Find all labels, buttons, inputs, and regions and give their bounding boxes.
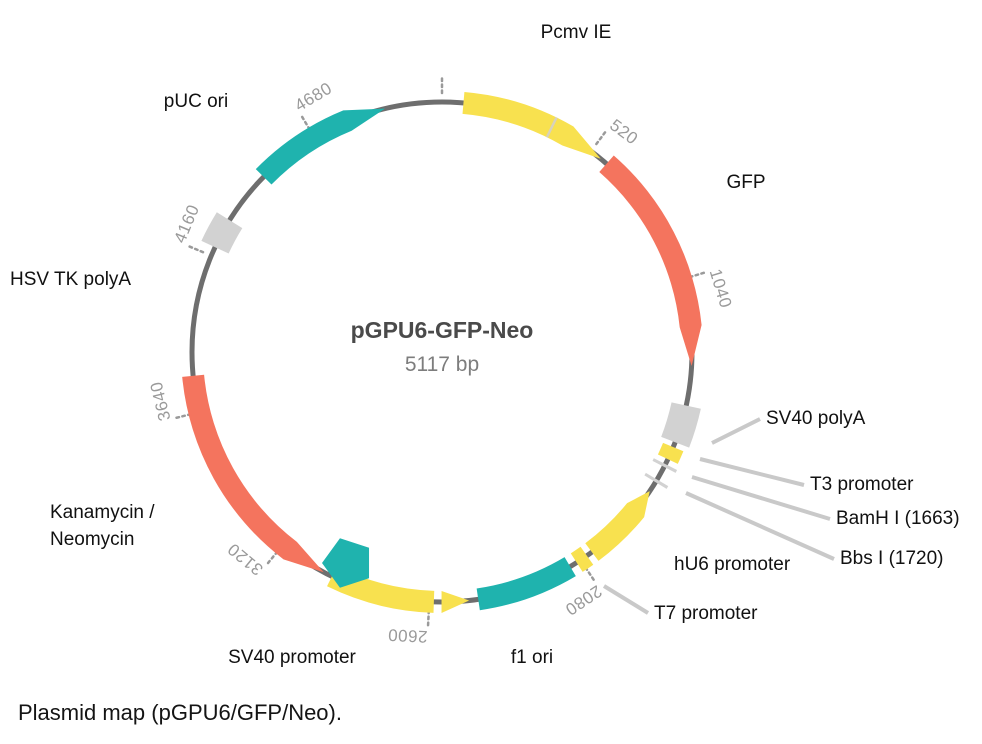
feature-label-sv40-promoter: SV40 promoter bbox=[228, 647, 356, 668]
tick-mark-2080 bbox=[586, 568, 595, 582]
tick-label-3120: 3120 bbox=[224, 539, 267, 579]
feature-label-t7-promoter: T7 promoter bbox=[654, 603, 758, 624]
feature-bbs-i-1720[interactable] bbox=[644, 473, 668, 489]
figure-caption: Plasmid map (pGPU6/GFP/Neo). bbox=[18, 700, 342, 726]
feature-label-pcmv-ie: Pcmv IE bbox=[541, 22, 612, 43]
feature-shape[interactable] bbox=[201, 212, 242, 253]
tick-label-4160: 4160 bbox=[170, 202, 203, 246]
feature-label-sv40-polya: SV40 polyA bbox=[766, 408, 866, 429]
feature-shape[interactable] bbox=[661, 402, 701, 447]
feature-shape[interactable] bbox=[644, 473, 668, 489]
feature-label-kanamycin-neomycin: Kanamycin / bbox=[50, 502, 155, 523]
tick-mark-1040 bbox=[690, 272, 706, 277]
feature-hsv-tk-polya[interactable] bbox=[201, 212, 242, 253]
feature-label-kanamycin-neomycin-line2: Neomycin bbox=[50, 529, 134, 550]
feature-label-hsv-tk-polya: HSV TK polyA bbox=[10, 269, 131, 290]
tick-label-2600: 2600 bbox=[387, 625, 428, 646]
leader-line-t3-promoter bbox=[700, 459, 804, 485]
feature-label-f1-ori: f1 ori bbox=[511, 647, 553, 668]
feature-puc-ori[interactable] bbox=[256, 109, 385, 185]
feature-shape[interactable] bbox=[585, 491, 649, 561]
feature-gfp[interactable] bbox=[599, 155, 701, 366]
feature-label-hu6-promoter: hU6 promoter bbox=[674, 554, 791, 575]
leader-line-t7-promoter bbox=[604, 586, 648, 613]
feature-label-gfp: GFP bbox=[726, 172, 765, 193]
feature-shape[interactable] bbox=[182, 375, 323, 572]
feature-shape[interactable] bbox=[463, 92, 601, 159]
feature-sv40-polya[interactable] bbox=[661, 402, 701, 447]
tick-label-4680: 4680 bbox=[291, 79, 335, 116]
feature-unnamed-arrowhead[interactable] bbox=[442, 591, 470, 613]
plasmid-center-title: pGPU6-GFP-Neo bbox=[351, 317, 534, 343]
feature-label-puc-ori: pUC ori bbox=[164, 91, 228, 112]
feature-pcmv-ie[interactable] bbox=[463, 92, 601, 159]
tick-label-520: 520 bbox=[606, 116, 641, 149]
plasmid-map-svg: 5201040208026003120364041604680Pcmv IEGF… bbox=[0, 0, 982, 744]
leader-line-sv40-polya bbox=[712, 419, 760, 443]
tick-label-2080: 2080 bbox=[562, 581, 606, 619]
feature-shape[interactable] bbox=[477, 557, 576, 610]
tick-label-1040: 1040 bbox=[706, 267, 736, 311]
tick-label-3640: 3640 bbox=[147, 380, 175, 423]
feature-shape[interactable] bbox=[442, 591, 470, 613]
feature-shape[interactable] bbox=[658, 443, 683, 464]
tick-mark-3120 bbox=[266, 552, 277, 565]
feature-shape[interactable] bbox=[256, 109, 385, 185]
feature-label-t3-promoter: T3 promoter bbox=[810, 474, 914, 495]
feature-label-bbs-i-1720: Bbs I (1720) bbox=[840, 548, 944, 569]
feature-f1-ori[interactable] bbox=[477, 557, 576, 610]
tick-mark-520 bbox=[596, 130, 606, 144]
feature-kanamycin-neomycin[interactable] bbox=[182, 375, 323, 572]
tick-mark-2600 bbox=[428, 611, 429, 628]
feature-label-bamh-i-1663: BamH I (1663) bbox=[836, 508, 960, 529]
leader-line-bbs-i-1720- bbox=[686, 493, 834, 559]
feature-hu6-promoter[interactable] bbox=[585, 491, 649, 561]
tick-mark-3640 bbox=[174, 414, 191, 418]
tick-mark-4680 bbox=[301, 115, 310, 130]
feature-shape[interactable] bbox=[599, 155, 701, 366]
tick-mark-4160 bbox=[187, 246, 203, 253]
feature-t3-promoter[interactable] bbox=[658, 443, 683, 464]
plasmid-center-size: 5117 bp bbox=[405, 353, 479, 376]
plasmid-map-figure: 5201040208026003120364041604680Pcmv IEGF… bbox=[0, 0, 982, 744]
feature-label-group: Pcmv IEGFPSV40 polyAT3 promoterBamH I (1… bbox=[10, 22, 960, 668]
